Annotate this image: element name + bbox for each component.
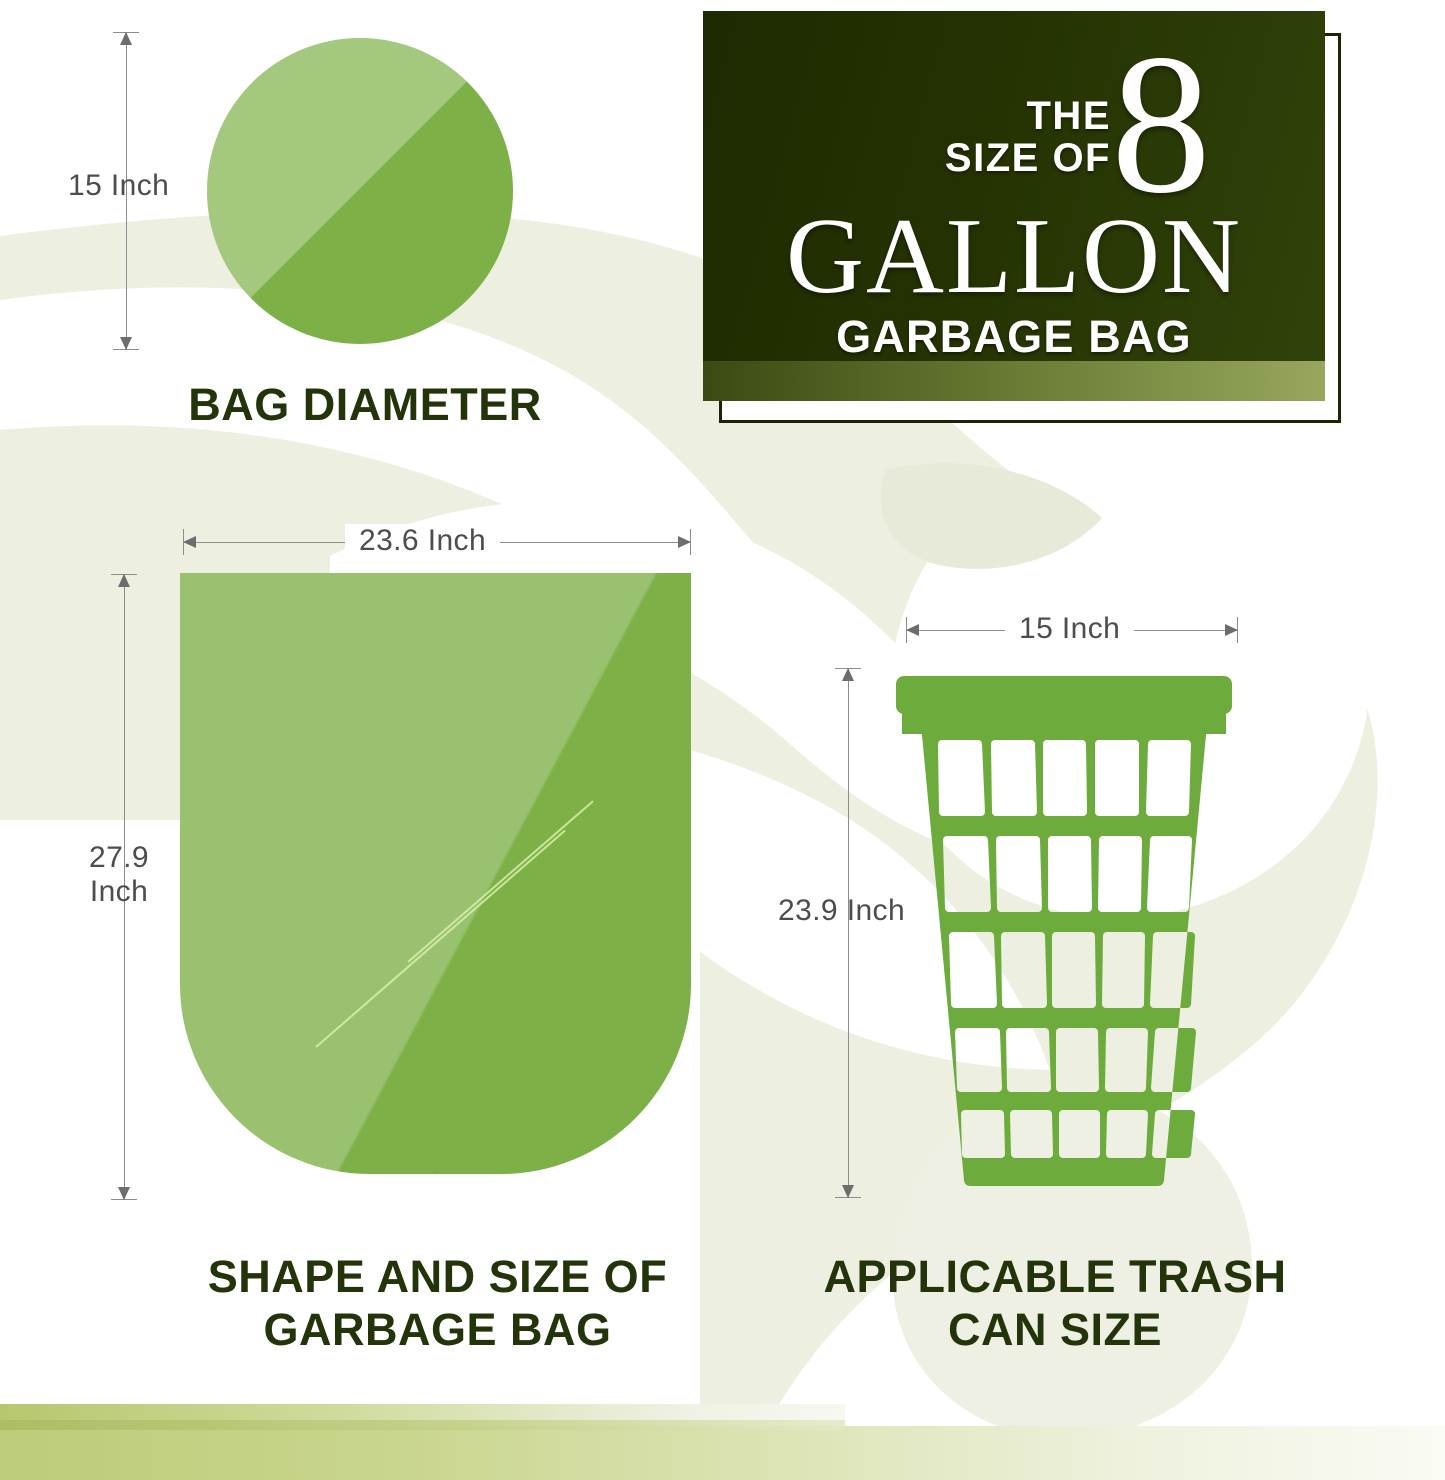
dimension-label-bag-width: 23.6 Inch xyxy=(345,524,500,558)
banner-product-name: GARBAGE BAG xyxy=(703,311,1325,363)
banner-gallon-number: 8 xyxy=(1111,25,1211,225)
dimension-label-bag-diameter: 15 Inch xyxy=(68,169,169,203)
footer-gradient-bar-accent xyxy=(0,1420,845,1430)
arrowhead-up-icon xyxy=(118,574,130,587)
cream-streak-upper-right xyxy=(881,463,1102,569)
arrowhead-left-icon xyxy=(183,536,196,548)
arrowhead-down-icon xyxy=(120,337,132,350)
trash-can-body xyxy=(920,714,1208,1186)
arrowhead-down-icon xyxy=(842,1185,854,1198)
caption-trash-can: APPLICABLE TRASH CAN SIZE xyxy=(790,1250,1320,1356)
footer-gradient-bar xyxy=(0,1426,1445,1480)
dimension-label-can-height: 23.9 Inch xyxy=(778,894,905,928)
caption-bag-diameter: BAG DIAMETER xyxy=(100,378,630,431)
arrowhead-up-icon xyxy=(842,668,854,681)
product-size-infographic: 15 Inch BAG DIAMETER THE SIZE OF 8 GALLO… xyxy=(0,0,1445,1480)
bag-diameter-circle-shape xyxy=(207,38,513,344)
arrowhead-right-icon xyxy=(1225,624,1238,636)
bag-gloss-highlight xyxy=(180,573,691,1174)
headline-banner: THE SIZE OF 8 GALLON GARBAGE BAG xyxy=(703,11,1325,401)
banner-gallon-word: GALLON xyxy=(703,203,1325,311)
arrowhead-left-icon xyxy=(906,624,919,636)
dimension-label-can-width: 15 Inch xyxy=(1005,612,1134,646)
garbage-bag-shape xyxy=(180,573,691,1174)
arrowhead-down-icon xyxy=(118,1187,130,1200)
trash-can-illustration xyxy=(896,668,1232,1198)
dimension-label-bag-height: 27.9 Inch xyxy=(74,841,164,908)
caption-bag-shape: SHAPE AND SIZE OF GARBAGE BAG xyxy=(110,1250,765,1356)
circle-gloss-highlight xyxy=(207,38,513,344)
banner-the-size-of-text: THE SIZE OF xyxy=(881,95,1111,180)
dimension-line-can-height xyxy=(833,668,863,1198)
trash-can-rim xyxy=(896,676,1232,714)
banner-panel: THE SIZE OF 8 GALLON GARBAGE BAG xyxy=(703,11,1325,401)
arrowhead-up-icon xyxy=(120,32,132,45)
arrowhead-right-icon xyxy=(678,536,691,548)
